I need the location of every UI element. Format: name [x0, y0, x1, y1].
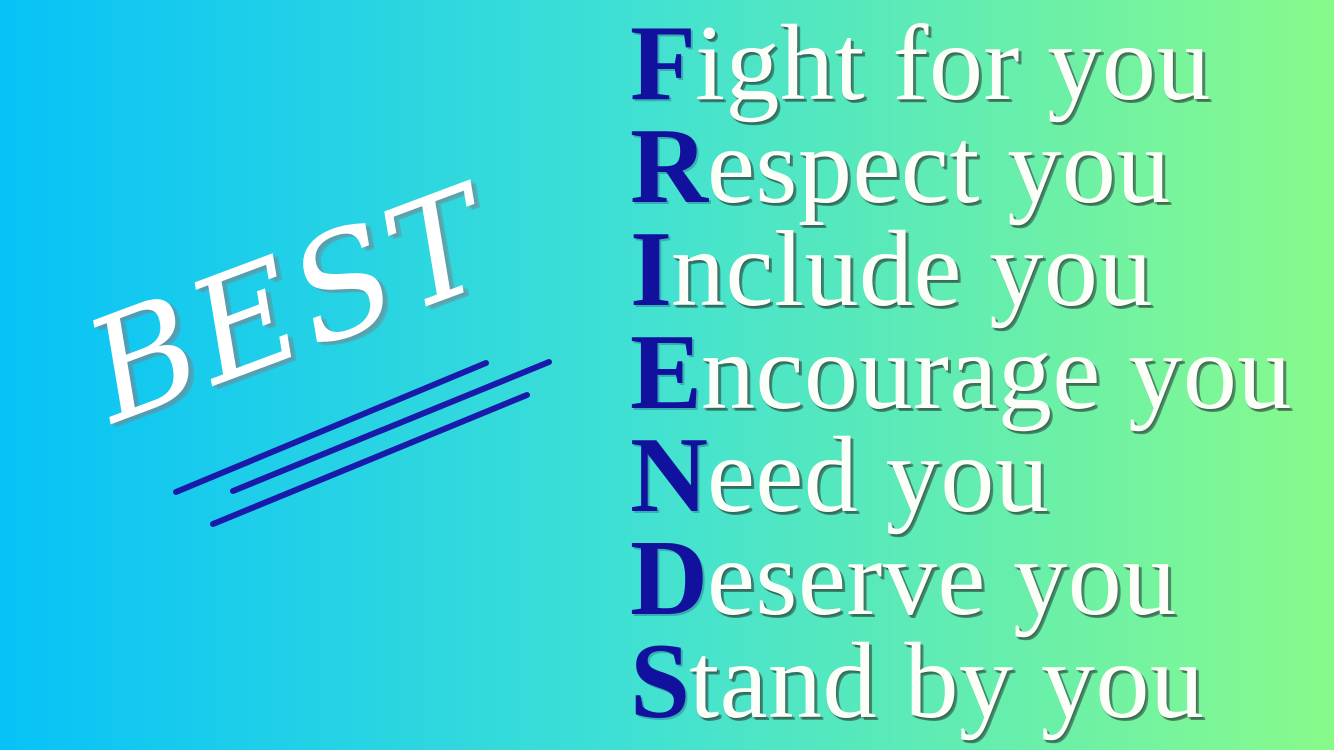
acrostic-initial-d: D [630, 519, 707, 638]
acrostic-initial-s: S [630, 622, 689, 741]
acrostic-text-r: espect you [707, 107, 1171, 226]
poster-canvas: BEST Fight for you Respect you Include y… [0, 0, 1334, 750]
acrostic-row-e: Encourage you [630, 317, 1330, 420]
acrostic-text-e: ncourage you [701, 313, 1292, 432]
acrostic-text-f: ight for you [695, 4, 1211, 123]
acrostic-row-d: Deserve you [630, 523, 1330, 626]
acrostic-row-r: Respect you [630, 111, 1330, 214]
acrostic-row-s: Stand by you [630, 626, 1330, 729]
acrostic-initial-e: E [630, 313, 701, 432]
acrostic-initial-n: N [630, 416, 707, 535]
acrostic-text-s: tand by you [689, 622, 1204, 741]
acrostic-row-f: Fight for you [630, 8, 1330, 111]
acrostic-initial-f: F [630, 4, 695, 123]
accent-line-1 [176, 363, 486, 492]
acrostic-text-d: eserve you [707, 519, 1177, 638]
acrostic-text-i: nclude you [671, 210, 1153, 329]
acrostic-text-n: eed you [707, 416, 1049, 535]
accent-line-2 [233, 362, 549, 491]
acrostic-row-i: Include you [630, 214, 1330, 317]
best-wordmark-text: BEST [69, 166, 512, 446]
accent-line-3 [213, 395, 527, 524]
best-wordmark: BEST [69, 166, 543, 529]
acrostic-block: Fight for you Respect you Include you En… [630, 8, 1330, 729]
acrostic-row-n: Need you [630, 420, 1330, 523]
acrostic-initial-r: R [630, 107, 707, 226]
acrostic-initial-i: I [630, 210, 671, 329]
